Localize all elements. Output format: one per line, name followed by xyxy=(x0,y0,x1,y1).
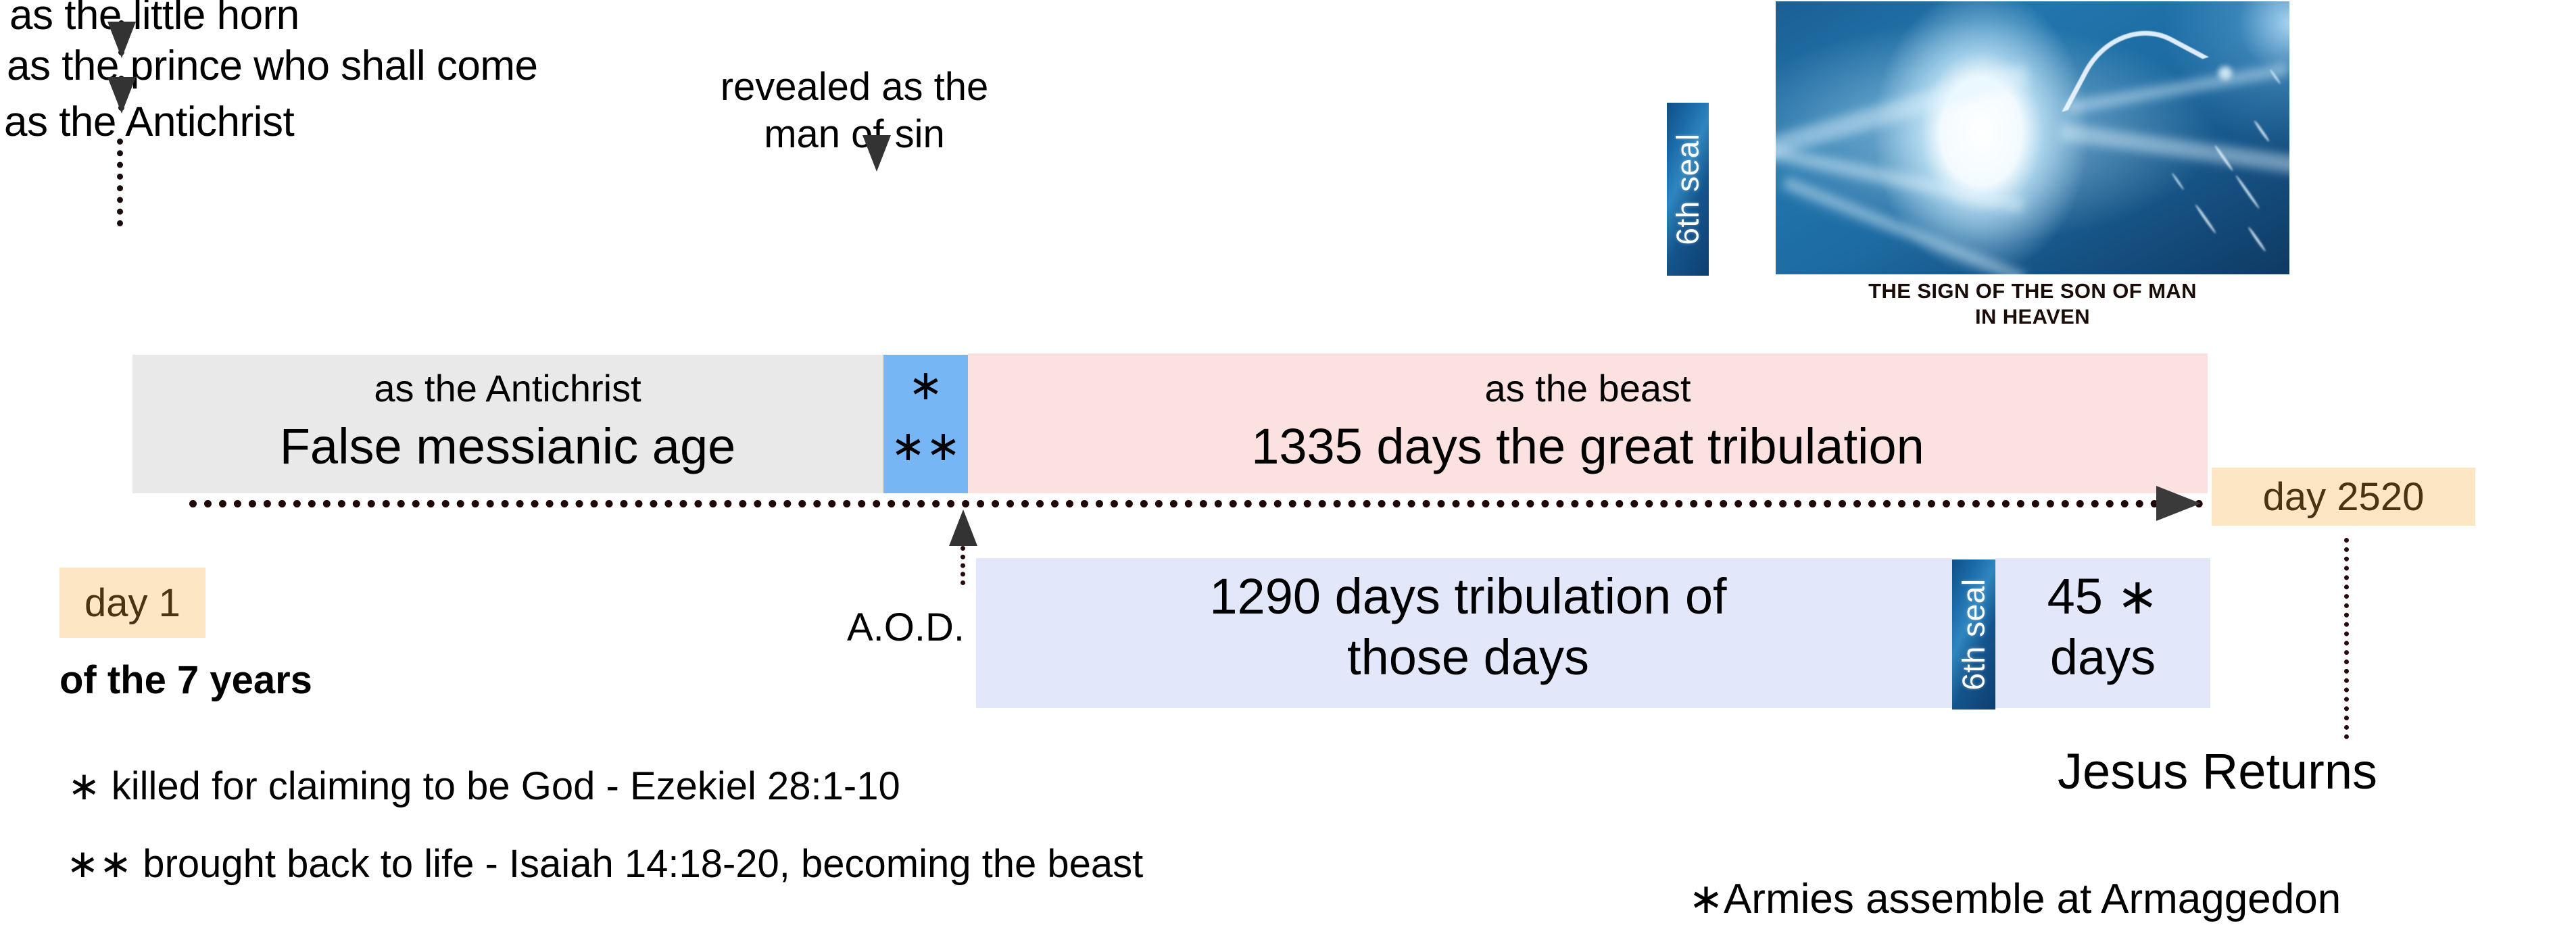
chain-label-antichrist: as the Antichrist xyxy=(4,101,294,143)
of-the-7-years-label: of the 7 years xyxy=(59,661,312,700)
bar-pink-caption: as the beast xyxy=(968,366,2208,410)
bar-blue-mark-1: ∗ xyxy=(883,365,968,407)
day-1-marker-line xyxy=(117,139,123,226)
bar-45-days-line-2: days xyxy=(1995,628,2210,686)
bar-blue-mark-2: ∗∗ xyxy=(883,426,968,468)
chain-label-prince: as the prince who shall come xyxy=(7,45,538,87)
lower-seal-badge: 6th seal xyxy=(1952,559,1995,709)
lower-seal-label: 6th seal xyxy=(1955,578,1992,690)
bar-45-days-line-1: 45 ∗ xyxy=(1995,568,2210,626)
footnote-double-asterisk: ∗∗ brought back to life - Isaiah 14:18-2… xyxy=(66,845,1143,884)
hero-caption-line-1: THE SIGN OF THE SON OF MAN xyxy=(1776,278,2289,304)
hero-seal-badge: 6th seal xyxy=(1667,103,1709,276)
bar-lower-title-line-1: 1290 days tribulation of xyxy=(987,568,1949,625)
jesus-returns-connector xyxy=(2344,538,2349,739)
hero-caption-line-2: IN HEAVEN xyxy=(1776,304,2289,330)
day-2520-chip: day 2520 xyxy=(2212,468,2475,526)
aod-arrow-icon xyxy=(949,509,977,546)
callout-arrow-icon xyxy=(862,135,891,172)
aod-connector-line xyxy=(961,546,965,585)
bar-pink-title: 1335 days the great tribulation xyxy=(968,418,2208,475)
chain-label-little-horn: as the little horn xyxy=(9,0,299,36)
timeline-main-arrow-line xyxy=(189,500,2204,507)
hero-seal-label: 6th seal xyxy=(1670,133,1706,245)
bar-gray-title: False messianic age xyxy=(132,418,883,475)
callout-line-1: revealed as the xyxy=(679,68,1030,107)
footnote-single-asterisk: ∗ killed for claiming to be God - Ezekie… xyxy=(68,767,900,806)
day-1-chip: day 1 xyxy=(59,568,205,638)
callout-line-2: man of sin xyxy=(679,115,1030,154)
sign-of-son-of-man-image xyxy=(1776,1,2289,274)
timeline-main-arrow-head-icon xyxy=(2156,486,2201,521)
armageddon-note: ∗Armies assemble at Armaggedon xyxy=(1688,878,2341,920)
jesus-returns-label: Jesus Returns xyxy=(2058,747,2377,797)
bar-lower-title-line-2: those days xyxy=(987,628,1949,686)
bar-gray-caption: as the Antichrist xyxy=(132,366,883,410)
